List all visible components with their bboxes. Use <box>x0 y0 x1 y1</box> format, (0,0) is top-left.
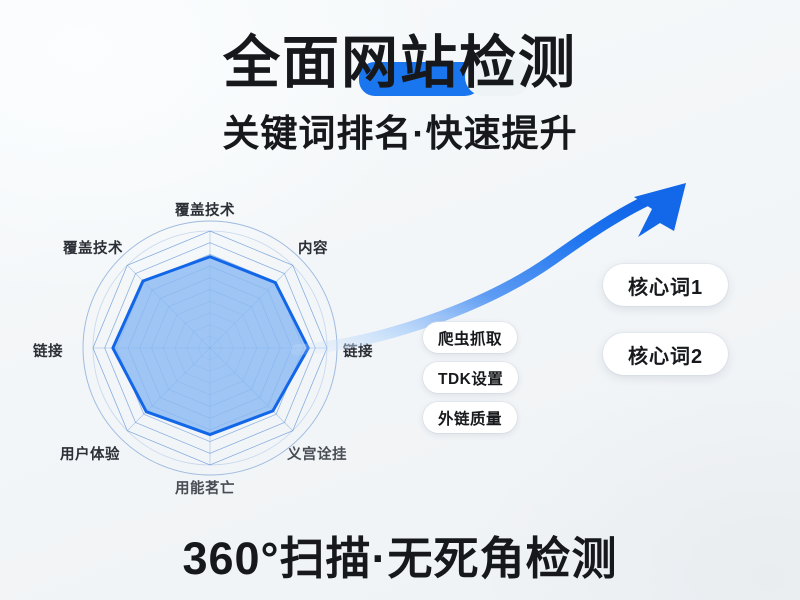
page-subtitle: 关键词排名·快速提升 <box>0 103 800 157</box>
radar-label-7: 覆盖技术 <box>63 237 123 258</box>
keyword-pill-1[interactable]: 核心词2 <box>603 333 728 375</box>
poster-canvas: 全面网站检测 关键词排名·快速提升 覆盖技术 内容 链接 义宫诠挂 用能茗亡 用… <box>0 0 800 600</box>
radar-label-5: 用户体验 <box>60 443 120 464</box>
radar-label-4: 用能茗亡 <box>175 477 235 498</box>
footer-title: 360°扫描·无死角检测 <box>0 522 800 587</box>
tag-pill-2[interactable]: 外链质量 <box>423 402 517 433</box>
tag-pill-0[interactable]: 爬虫抓取 <box>423 322 517 353</box>
radar-label-6: 链接 <box>33 340 63 361</box>
keyword-pill-0[interactable]: 核心词1 <box>603 264 728 306</box>
radar-label-0: 覆盖技术 <box>175 199 235 220</box>
page-title-text: 全面网站检测 <box>223 31 577 95</box>
header-block: 全面网站检测 关键词排名·快速提升 <box>0 34 800 157</box>
radar-label-3: 义宫诠挂 <box>287 443 347 464</box>
tag-pill-1[interactable]: TDK设置 <box>423 362 518 393</box>
page-title: 全面网站检测 <box>223 34 577 92</box>
